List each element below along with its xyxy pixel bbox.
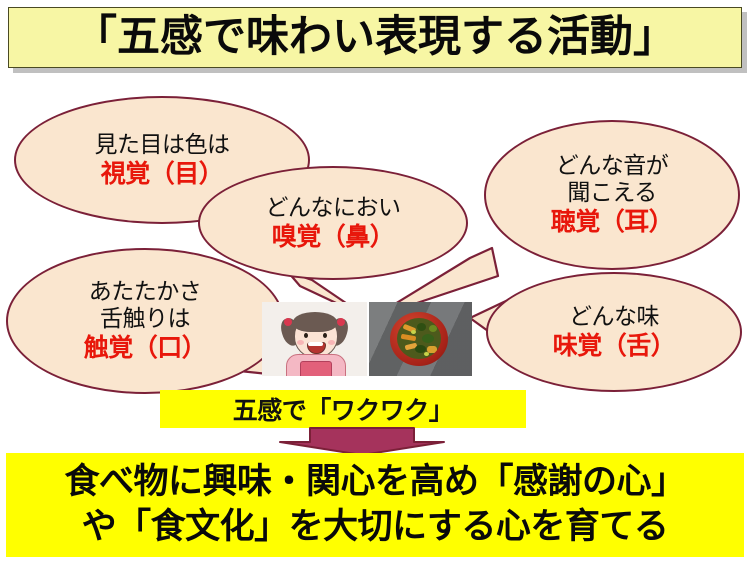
bubble-smell-question: どんなにおい [266, 195, 401, 222]
bubble-touch-sense: 触覚（口） [84, 333, 207, 363]
soup-greens [429, 325, 437, 332]
soup-contents [397, 318, 441, 359]
down-arrow-icon [262, 426, 462, 456]
soup-greens [422, 334, 434, 343]
bubble-smell-sense: 嗅覚（鼻） [272, 222, 395, 252]
girl-overalls [300, 361, 332, 376]
bubble-hearing-sense: 聴覚（耳） [551, 207, 674, 237]
center-image-pair [262, 302, 472, 376]
bubble-taste[interactable]: どんな味 味覚（舌） [486, 272, 742, 392]
bubble-touch-question-line2: 舌触りは [100, 306, 190, 333]
soup-carrot [401, 334, 417, 342]
goal-banner: 食べ物に興味・関心を高め「感謝の心」 や「食文化」を大切にする心を育てる [6, 453, 744, 557]
bubble-touch[interactable]: あたたかさ 舌触りは 触覚（口） [6, 248, 284, 394]
bubble-sight-question: 見た目は色は [95, 132, 230, 159]
girl-teeth [308, 342, 323, 346]
girl-cheek-right [328, 340, 335, 345]
girl-bangs [293, 312, 337, 332]
girl-hairtie-right [337, 318, 345, 326]
bubble-hearing-question-line2: 聞こえる [567, 180, 656, 207]
soup-corn [411, 330, 416, 334]
bubble-taste-sense: 味覚（舌） [553, 331, 676, 361]
middle-banner: 五感で「ワクワク」 [160, 390, 526, 428]
smiling-girl-illustration [262, 302, 367, 376]
bubble-hearing-question-line1: どんな音が [556, 153, 669, 180]
soup-corn [424, 352, 429, 356]
page-title: 「五感で味わい表現する活動」 [74, 16, 676, 59]
soup-greens [417, 323, 426, 331]
bubble-hearing[interactable]: どんな音が 聞こえる 聴覚（耳） [484, 120, 740, 270]
bubble-smell[interactable]: どんなにおい 嗅覚（鼻） [198, 166, 468, 280]
title-banner: 「五感で味わい表現する活動」 [8, 7, 742, 68]
girl-hairtie-left [284, 318, 292, 326]
image-divider [367, 302, 369, 376]
miso-soup-bowl-photo [367, 302, 472, 376]
bubble-taste-question: どんな味 [569, 304, 659, 331]
girl-eye-left [304, 333, 308, 338]
goal-line-2: や「食文化」を大切にする心を育てる [82, 505, 669, 550]
middle-banner-text: 五感で「ワクワク」 [233, 391, 454, 427]
goal-line-1: 食べ物に興味・関心を高め「感謝の心」 [64, 460, 685, 505]
slide-canvas: 「五感で味わい表現する活動」 見た目は色は 視覚（目） どんなにおい 嗅覚（鼻）… [0, 0, 750, 563]
bubble-sight-sense: 視覚（目） [101, 159, 224, 189]
girl-eye-right [323, 333, 327, 338]
girl-cheek-left [297, 340, 304, 345]
bubble-touch-question-line1: あたたかさ [89, 279, 202, 306]
